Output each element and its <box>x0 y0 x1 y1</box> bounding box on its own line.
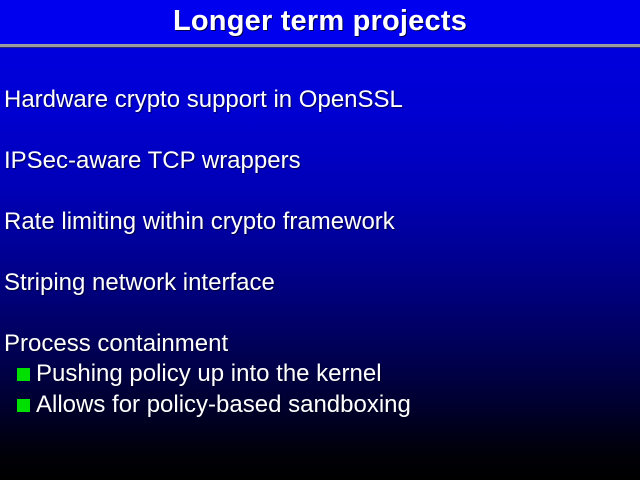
bullet-item-1-label: Hardware crypto support in OpenSSL <box>4 86 403 113</box>
bullet-item-2: IPSec-aware TCP wrappers <box>4 147 301 175</box>
green-square-bullet-icon <box>17 368 30 381</box>
green-square-bullet-icon <box>17 399 30 412</box>
slide-title-band: Longer term projects <box>0 0 640 44</box>
slide-canvas: Longer term projects Hardware crypto sup… <box>0 0 640 480</box>
bullet-item-5: Process containment <box>4 330 228 358</box>
bullet-item-3: Rate limiting within crypto framework <box>4 208 395 236</box>
sub-bullet-item-2: Allows for policy-based sandboxing <box>17 391 411 419</box>
slide-content: Hardware crypto support in OpenSSL IPSec… <box>0 48 640 480</box>
sub-bullet-item-1: Pushing policy up into the kernel <box>17 360 382 388</box>
sub-bullet-item-1-label: Pushing policy up into the kernel <box>36 360 382 388</box>
bullet-item-4: Striping network interface <box>4 269 275 297</box>
slide-title: Longer term projects <box>0 4 640 38</box>
bullet-item-1: Hardware crypto support in OpenSSL <box>4 86 403 114</box>
bullet-item-5-label: Process containment <box>4 330 228 357</box>
bullet-item-3-label: Rate limiting within crypto framework <box>4 208 395 235</box>
bullet-item-2-label: IPSec-aware TCP wrappers <box>4 147 301 174</box>
bullet-item-4-label: Striping network interface <box>4 269 275 296</box>
sub-bullet-item-2-label: Allows for policy-based sandboxing <box>36 391 411 419</box>
